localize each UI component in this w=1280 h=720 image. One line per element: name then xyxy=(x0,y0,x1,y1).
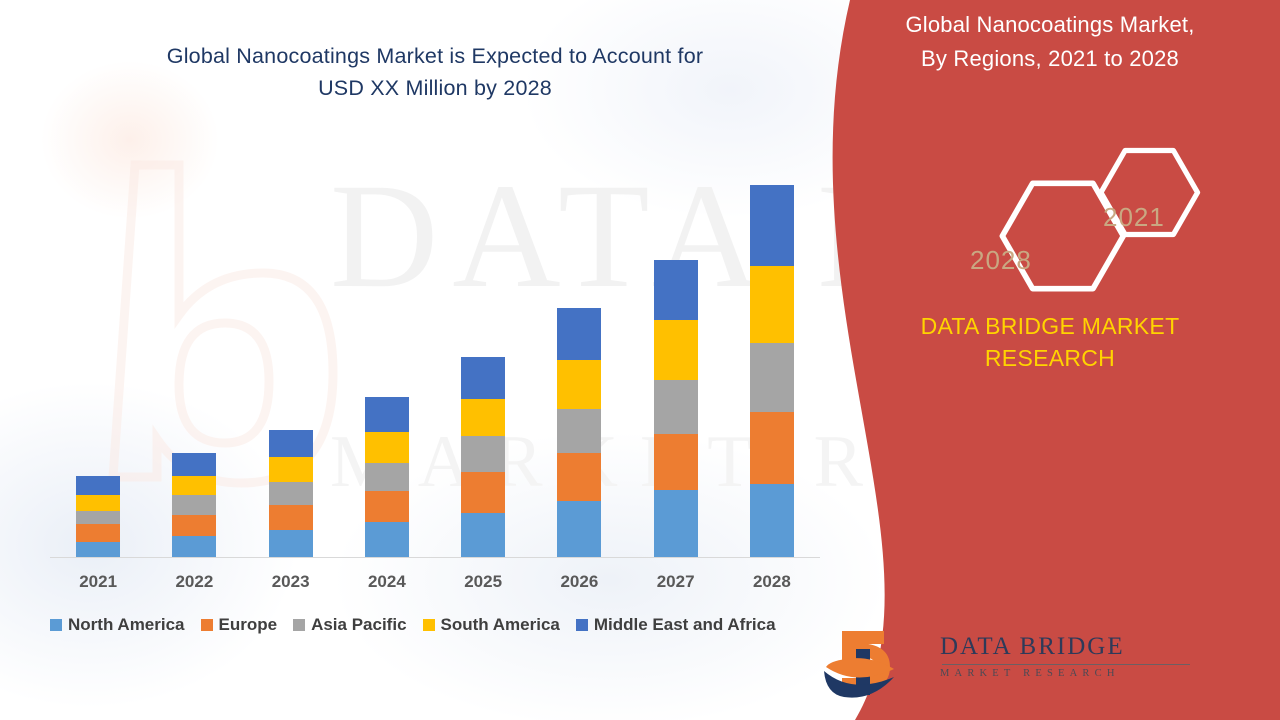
chart-title-line-1: Global Nanocoatings Market is Expected t… xyxy=(40,40,830,72)
hexagon-label-2028: 2028 xyxy=(970,245,1032,276)
bar-group-2021 xyxy=(50,140,146,557)
x-axis-labels: 20212022202320242025202620272028 xyxy=(50,572,820,600)
logo-divider xyxy=(942,664,1190,665)
bar-group-2026 xyxy=(531,140,627,557)
legend-item[interactable]: South America xyxy=(423,615,560,635)
bar-segment[interactable] xyxy=(269,430,313,457)
legend-item[interactable]: Asia Pacific xyxy=(293,615,406,635)
bar-segment[interactable] xyxy=(750,412,794,483)
bar-segment[interactable] xyxy=(557,501,601,557)
bar-group-2022 xyxy=(146,140,242,557)
bar-segment[interactable] xyxy=(654,380,698,434)
logo-name: DATA BRIDGE xyxy=(940,633,1240,661)
stacked-bar[interactable] xyxy=(76,476,120,557)
right-panel: Global Nanocoatings Market, By Regions, … xyxy=(810,0,1280,720)
bar-group-2028 xyxy=(724,140,820,557)
bar-segment[interactable] xyxy=(269,505,313,530)
bar-segment[interactable] xyxy=(750,266,794,343)
legend-swatch-icon xyxy=(576,619,588,631)
right-panel-title-line-1: Global Nanocoatings Market, xyxy=(840,8,1260,42)
bar-group-2025 xyxy=(435,140,531,557)
x-axis-label-2023: 2023 xyxy=(243,572,339,600)
bar-segment[interactable] xyxy=(365,522,409,557)
bar-segment[interactable] xyxy=(557,453,601,501)
chart-legend: North AmericaEuropeAsia PacificSouth Ame… xyxy=(50,615,840,635)
x-axis-label-2021: 2021 xyxy=(50,572,146,600)
bar-segment[interactable] xyxy=(76,524,120,541)
legend-swatch-icon xyxy=(201,619,213,631)
bar-segment[interactable] xyxy=(172,495,216,514)
chart-panel: DATA BRIDGE MARKET RESEARCH Global Nanoc… xyxy=(0,0,880,720)
legend-label: South America xyxy=(441,615,560,635)
bar-segment[interactable] xyxy=(654,320,698,380)
legend-label: Middle East and Africa xyxy=(594,615,776,635)
hexagon-label-2021: 2021 xyxy=(1103,202,1165,233)
stacked-bar[interactable] xyxy=(750,185,794,557)
bar-segment[interactable] xyxy=(76,542,120,557)
right-panel-title: Global Nanocoatings Market, By Regions, … xyxy=(840,8,1260,76)
bar-segment[interactable] xyxy=(461,513,505,557)
legend-swatch-icon xyxy=(423,619,435,631)
bar-group-2023 xyxy=(243,140,339,557)
stacked-bar[interactable] xyxy=(365,397,409,557)
right-panel-content: Global Nanocoatings Market, By Regions, … xyxy=(810,0,1280,720)
bar-group-2024 xyxy=(339,140,435,557)
stacked-bar[interactable] xyxy=(654,260,698,557)
bar-segment[interactable] xyxy=(76,476,120,495)
legend-item[interactable]: Europe xyxy=(201,615,278,635)
x-axis-line xyxy=(50,557,820,558)
hexagon-group: 2021 2028 xyxy=(900,140,1230,300)
company-logo: DATA BRIDGE MARKET RESEARCH xyxy=(810,615,1280,710)
legend-label: Asia Pacific xyxy=(311,615,406,635)
bar-segment[interactable] xyxy=(461,357,505,399)
legend-item[interactable]: Middle East and Africa xyxy=(576,615,776,635)
stacked-bar[interactable] xyxy=(461,357,505,557)
chart-title: Global Nanocoatings Market is Expected t… xyxy=(40,40,830,104)
legend-swatch-icon xyxy=(50,619,62,631)
x-axis-label-2024: 2024 xyxy=(339,572,435,600)
bar-segment[interactable] xyxy=(750,484,794,557)
brand-name-line-2: RESEARCH xyxy=(840,342,1260,374)
x-axis-label-2027: 2027 xyxy=(628,572,724,600)
bar-segment[interactable] xyxy=(461,472,505,512)
bar-segment[interactable] xyxy=(269,482,313,505)
bar-segment[interactable] xyxy=(172,476,216,495)
logo-subtitle: MARKET RESEARCH xyxy=(940,668,1240,679)
stacked-bar[interactable] xyxy=(269,430,313,557)
x-axis-label-2028: 2028 xyxy=(724,572,820,600)
bar-segment[interactable] xyxy=(365,491,409,522)
bar-segment[interactable] xyxy=(654,490,698,557)
right-panel-title-line-2: By Regions, 2021 to 2028 xyxy=(840,42,1260,76)
bar-segment[interactable] xyxy=(461,436,505,473)
bar-segment[interactable] xyxy=(654,434,698,490)
logo-b-mark-icon xyxy=(820,623,940,703)
bar-segment[interactable] xyxy=(461,399,505,436)
stacked-bar[interactable] xyxy=(172,453,216,557)
legend-swatch-icon xyxy=(293,619,305,631)
bar-segment[interactable] xyxy=(365,432,409,463)
bar-segment[interactable] xyxy=(557,409,601,453)
bar-segment[interactable] xyxy=(172,453,216,476)
bar-segment[interactable] xyxy=(76,511,120,524)
bar-segment[interactable] xyxy=(750,185,794,266)
bar-segment[interactable] xyxy=(269,530,313,557)
x-axis-label-2026: 2026 xyxy=(531,572,627,600)
legend-label: North America xyxy=(68,615,185,635)
hexagon-outlines-icon xyxy=(900,140,1230,300)
bar-segment[interactable] xyxy=(172,536,216,557)
bar-segment[interactable] xyxy=(365,463,409,492)
bar-segment[interactable] xyxy=(557,360,601,408)
chart-title-line-2: USD XX Million by 2028 xyxy=(40,72,830,104)
x-axis-label-2025: 2025 xyxy=(435,572,531,600)
bar-segment[interactable] xyxy=(269,457,313,482)
bar-segment[interactable] xyxy=(557,308,601,360)
logo-wordmark: DATA BRIDGE MARKET RESEARCH xyxy=(940,633,1240,679)
x-axis-label-2022: 2022 xyxy=(146,572,242,600)
bar-segment[interactable] xyxy=(654,260,698,320)
bar-chart-plot xyxy=(50,140,820,557)
bar-segment[interactable] xyxy=(365,397,409,432)
stacked-bar[interactable] xyxy=(557,308,601,557)
bar-group-2027 xyxy=(628,140,724,557)
legend-item[interactable]: North America xyxy=(50,615,185,635)
bar-segment[interactable] xyxy=(172,515,216,536)
legend-label: Europe xyxy=(219,615,278,635)
brand-name-line-1: DATA BRIDGE MARKET xyxy=(840,310,1260,342)
bar-segment[interactable] xyxy=(750,343,794,412)
bar-segment[interactable] xyxy=(76,495,120,510)
brand-name: DATA BRIDGE MARKET RESEARCH xyxy=(840,310,1260,374)
